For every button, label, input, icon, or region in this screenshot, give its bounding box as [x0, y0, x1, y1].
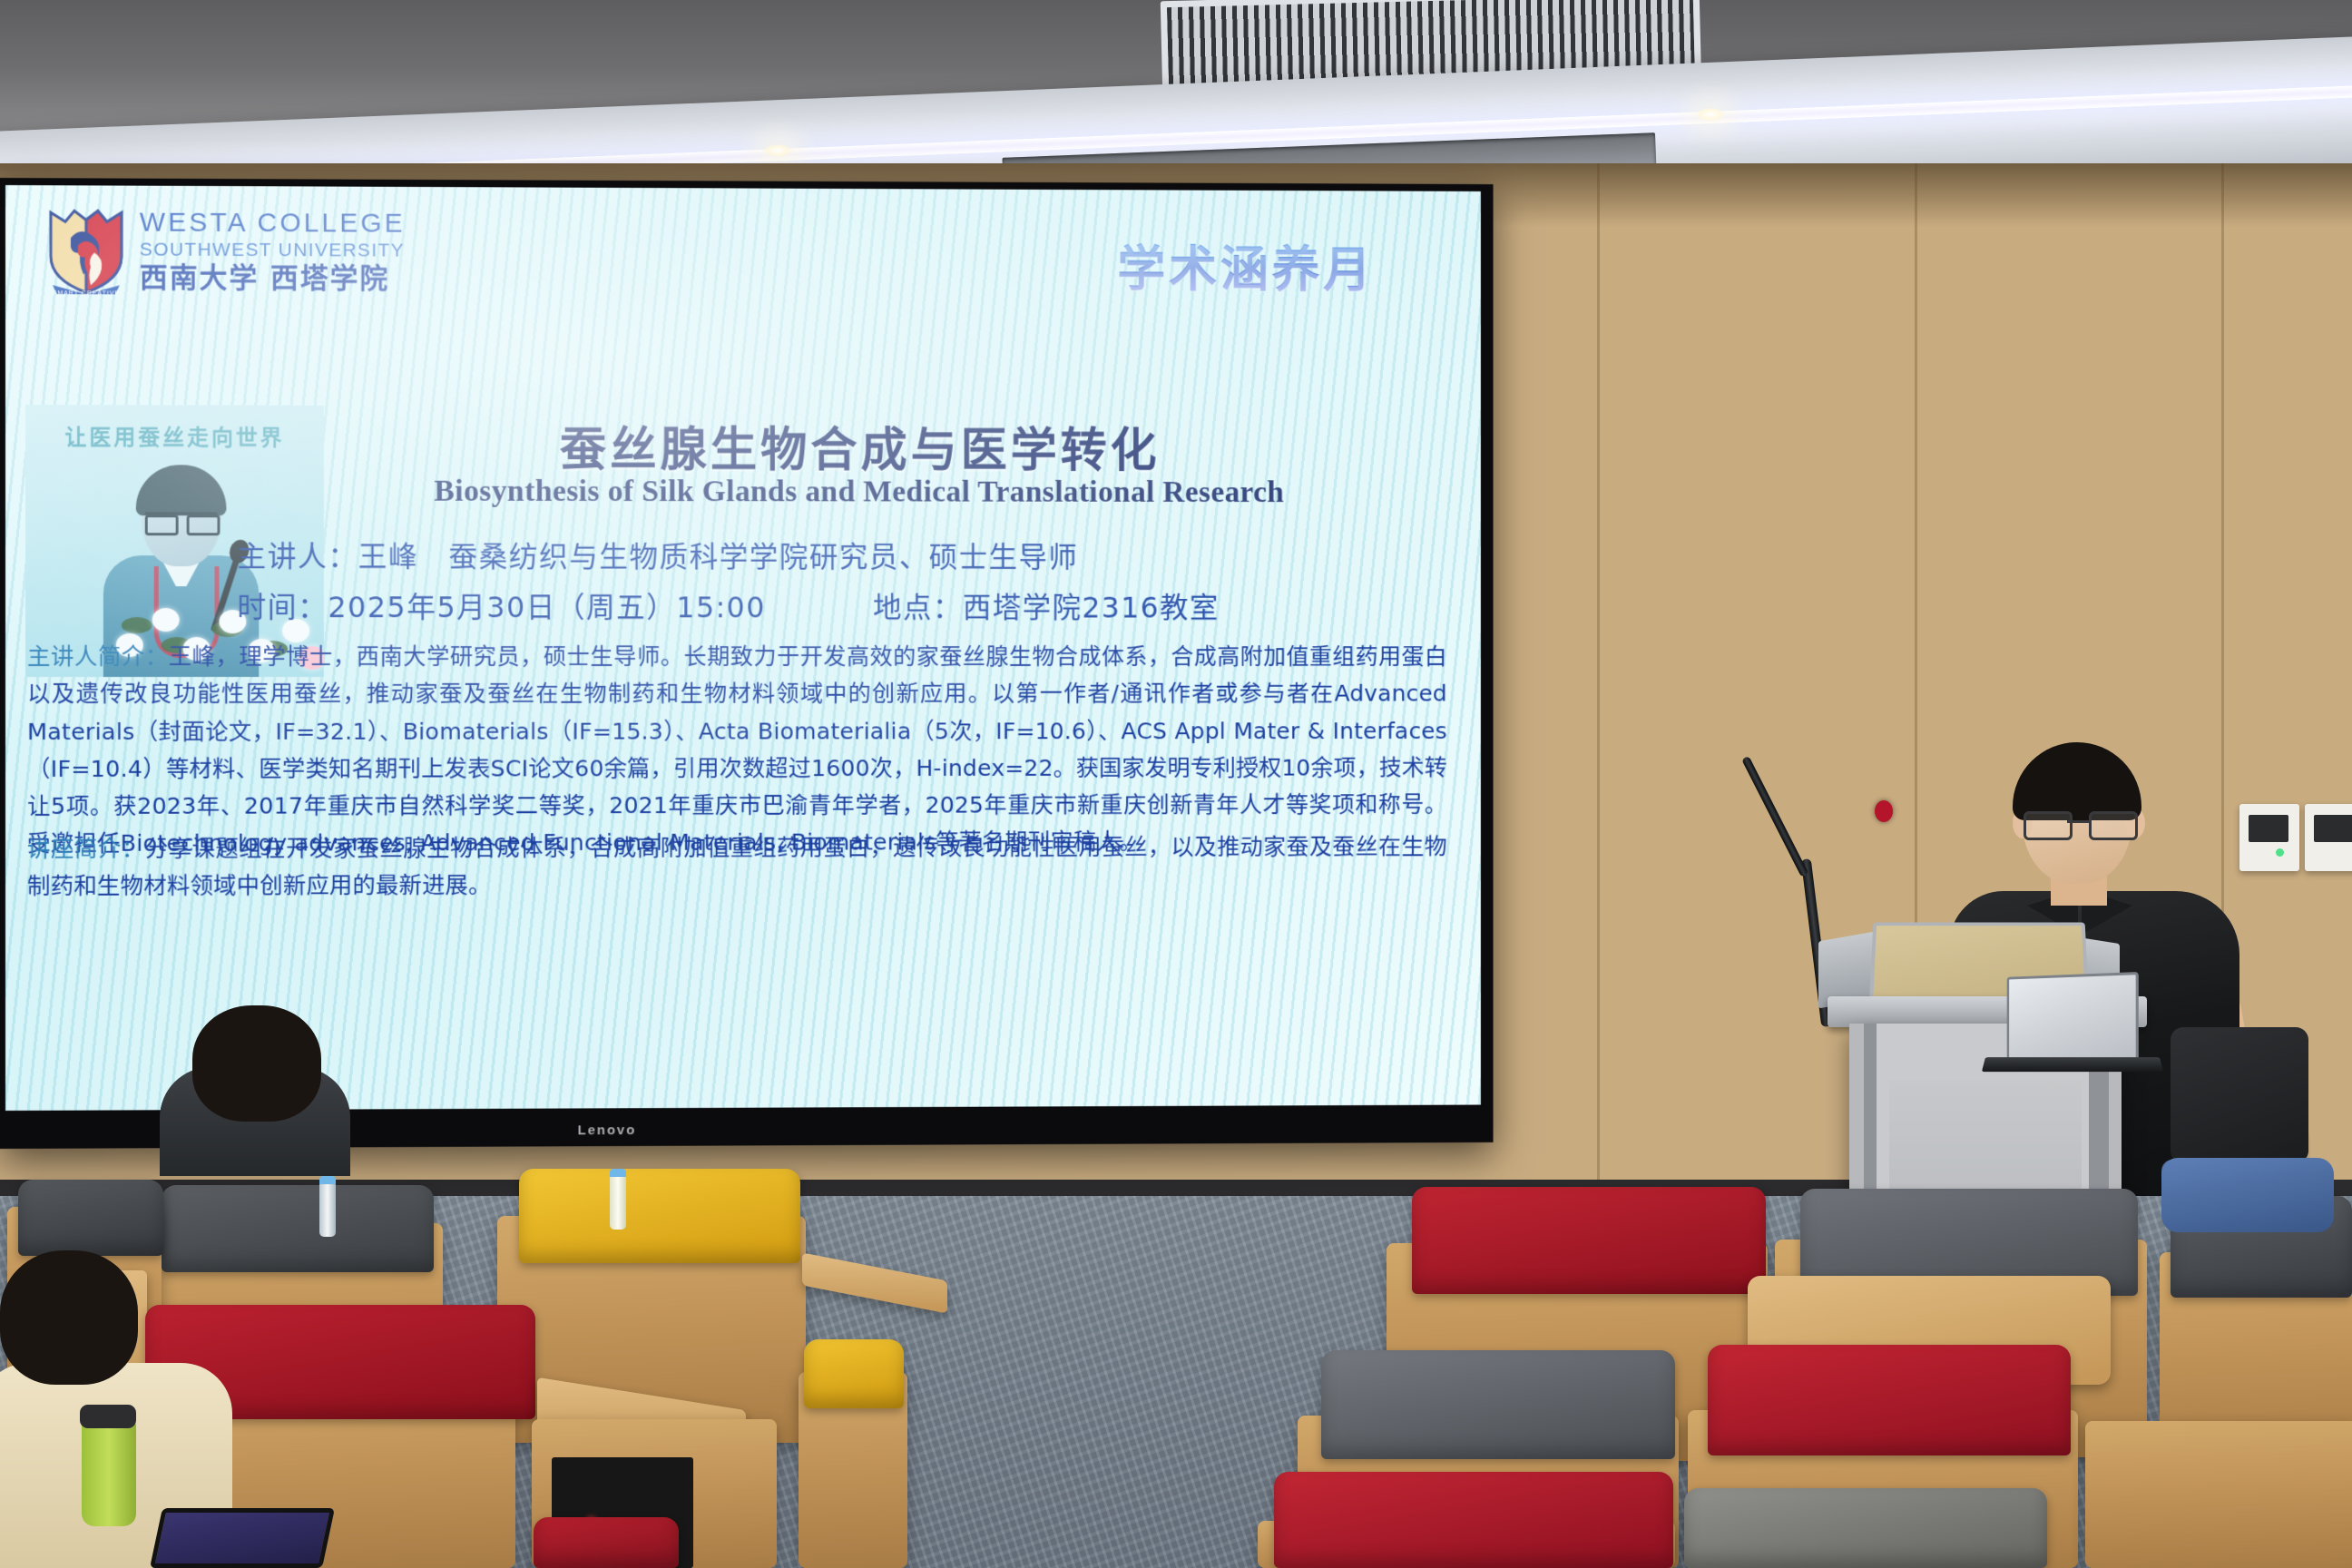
logo-english-line2: SOUTHWEST UNIVERSITY [140, 240, 406, 260]
slide-title-english: Biosynthesis of Silk Glands and Medical … [367, 475, 1350, 510]
glasses-icon [2024, 811, 2132, 835]
hvac-wall-controller-2[interactable] [2305, 804, 2352, 871]
slide-place-label: 地点：西塔学院2316教室 [873, 585, 1220, 627]
green-tumbler[interactable] [82, 1417, 136, 1526]
slide-time-label: 时间：2025年5月30日（周五）15:00 [237, 584, 765, 626]
laptop-screen [2007, 972, 2139, 1066]
seat-yellow[interactable] [804, 1339, 904, 1408]
lecture-hall-scene: Lenovo SMART CREATIVE WESTA CO [0, 0, 2352, 1568]
academic-month-banner: 学术涵养月 [1117, 230, 1375, 301]
seat-gray[interactable] [1684, 1488, 2047, 1568]
presenter-hair [2013, 742, 2141, 820]
svg-text:SMART CREATIVE: SMART CREATIVE [53, 290, 120, 294]
college-logo: SMART CREATIVE WESTA COLLEGE SOUTHWEST U… [47, 207, 406, 295]
downlight-icon [762, 143, 793, 158]
abstract-lead: 讲座简介： [27, 836, 145, 863]
seat-red[interactable] [1708, 1345, 2071, 1455]
photo-caption: 让医用蚕丝走向世界 [64, 419, 284, 451]
tumbler-lid [80, 1405, 136, 1428]
water-bottle[interactable] [610, 1169, 626, 1230]
speaker-bio-text: 王峰，理学博士，西南大学研究员，硕士生导师。长期致力于开发高效的家蚕丝腺生物合成… [27, 643, 1447, 857]
seat-red[interactable] [534, 1517, 679, 1568]
seat-red[interactable] [1412, 1187, 1766, 1294]
water-bottle[interactable] [319, 1176, 336, 1237]
abstract-paragraph: 讲座简介：分享课题组在开发家蚕丝腺生物合成体系，合成高附加值重组药用蛋白，遗传改… [27, 829, 1447, 906]
side-chair-back [2171, 1027, 2308, 1163]
laptop-keyboard[interactable] [1982, 1057, 2163, 1072]
seat-red[interactable] [1274, 1472, 1673, 1568]
tablet-device[interactable] [150, 1508, 335, 1568]
logo-chinese: 西南大学 西塔学院 [140, 265, 406, 294]
laptop-on-podium[interactable] [1984, 975, 2156, 1073]
screen-brand-label: Lenovo [578, 1122, 637, 1138]
presentation-slide: SMART CREATIVE WESTA COLLEGE SOUTHWEST U… [5, 185, 1481, 1111]
microphone-head-icon [1875, 800, 1893, 822]
wall-seam [1597, 163, 1600, 1207]
slide-title-chinese: 蚕丝腺生物合成与医学转化 [367, 411, 1350, 481]
seat-yellow[interactable] [519, 1169, 800, 1263]
speaker-bio-lead: 主讲人简介： [27, 643, 169, 671]
projection-screen: Lenovo SMART CREATIVE WESTA CO [0, 178, 1494, 1149]
logo-english-line1: WESTA COLLEGE [140, 210, 406, 238]
westa-crest-icon: SMART CREATIVE [47, 207, 125, 294]
seat-gray[interactable] [18, 1180, 163, 1256]
slide-speaker-line: 主讲人：王峰 蚕桑纺织与生物质科学学院研究员、硕士生导师 [237, 534, 1444, 576]
abstract-text: 分享课题组在开发家蚕丝腺生物合成体系，合成高附加值重组药用蛋白，遗传改良功能性医… [27, 834, 1447, 901]
seat-gray[interactable] [1321, 1350, 1675, 1459]
slide-time-place-row: 时间：2025年5月30日（周五）15:00 地点：西塔学院2316教室 [237, 584, 1444, 626]
downlight-icon [1695, 107, 1726, 122]
seat-gray[interactable] [162, 1185, 434, 1272]
